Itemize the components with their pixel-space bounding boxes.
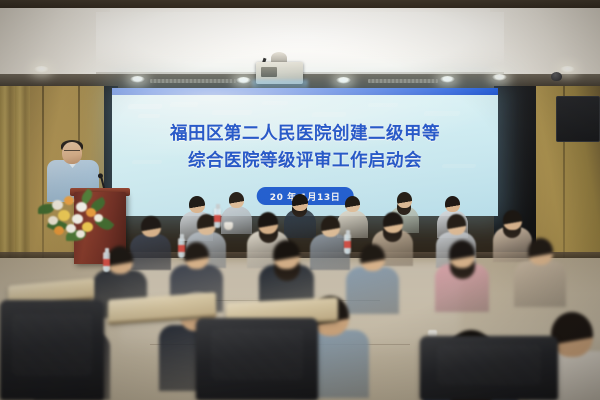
ceiling-camera-icon (551, 72, 562, 81)
downlight-icon (560, 66, 575, 73)
screen-watermark (367, 103, 398, 107)
downlight-icon (336, 77, 351, 84)
attendee-head (528, 238, 553, 265)
podium-flower-arrangement (36, 186, 112, 242)
attendee-head (258, 212, 278, 234)
downlight-icon (34, 66, 49, 73)
screen-top-band (112, 88, 498, 95)
attendee-head (273, 240, 300, 269)
attendee-head (383, 212, 403, 233)
attendee-head (292, 194, 308, 211)
attendee-head (189, 196, 205, 213)
attendee-head (229, 192, 244, 208)
screen-watermark (423, 111, 461, 116)
attendee-head (447, 214, 466, 235)
ceiling-vent (368, 79, 438, 83)
chair (420, 336, 558, 400)
attendee-head (360, 244, 385, 271)
ceiling-bevel-right (490, 8, 600, 82)
screen-watermark (169, 102, 199, 107)
water-bottle (344, 234, 351, 254)
screen-watermark (127, 104, 163, 109)
curtain-left (0, 86, 30, 276)
attendee (435, 240, 489, 316)
downlight-icon (130, 76, 145, 83)
presentation-title-line2: 综合医院等级评审工作启动会 (112, 148, 498, 175)
water-bottle (178, 238, 185, 258)
attendee-head (107, 246, 133, 274)
paper-cup (224, 222, 233, 230)
chair (0, 300, 104, 400)
water-bottle (103, 252, 110, 272)
attendee-head (503, 210, 522, 230)
speaker-glasses-icon (64, 150, 80, 155)
ceiling-vent (150, 79, 236, 83)
screen-watermark (311, 112, 347, 117)
attendee-head (184, 242, 209, 269)
downlight-icon (492, 74, 507, 81)
water-bottle (214, 208, 221, 228)
presentation-title: 福田区第二人民医院创建二级甲等 综合医院等级评审工作启动会 (112, 121, 498, 175)
screen-watermark (261, 101, 288, 105)
screen-watermark (137, 114, 160, 118)
downlight-icon (440, 76, 455, 83)
chair (196, 318, 318, 400)
attendee-torso (514, 261, 566, 307)
attendee-head (141, 216, 161, 237)
wall-display (556, 96, 600, 142)
conference-room-photo: 福田区第二人民医院创建二级甲等 综合医院等级评审工作启动会 20 年 1月13日 (0, 0, 600, 400)
screen-watermark (211, 110, 253, 115)
attendee-head (321, 216, 340, 237)
attendee-head (445, 196, 460, 212)
attendee-head (397, 192, 412, 208)
downlight-icon (236, 77, 251, 84)
attendee-head (449, 240, 475, 268)
attendee (514, 238, 566, 311)
presentation-title-line1: 福田区第二人民医院创建二级甲等 (170, 124, 440, 144)
ceiling-bevel-left (0, 8, 110, 82)
attendee-head (345, 196, 360, 212)
